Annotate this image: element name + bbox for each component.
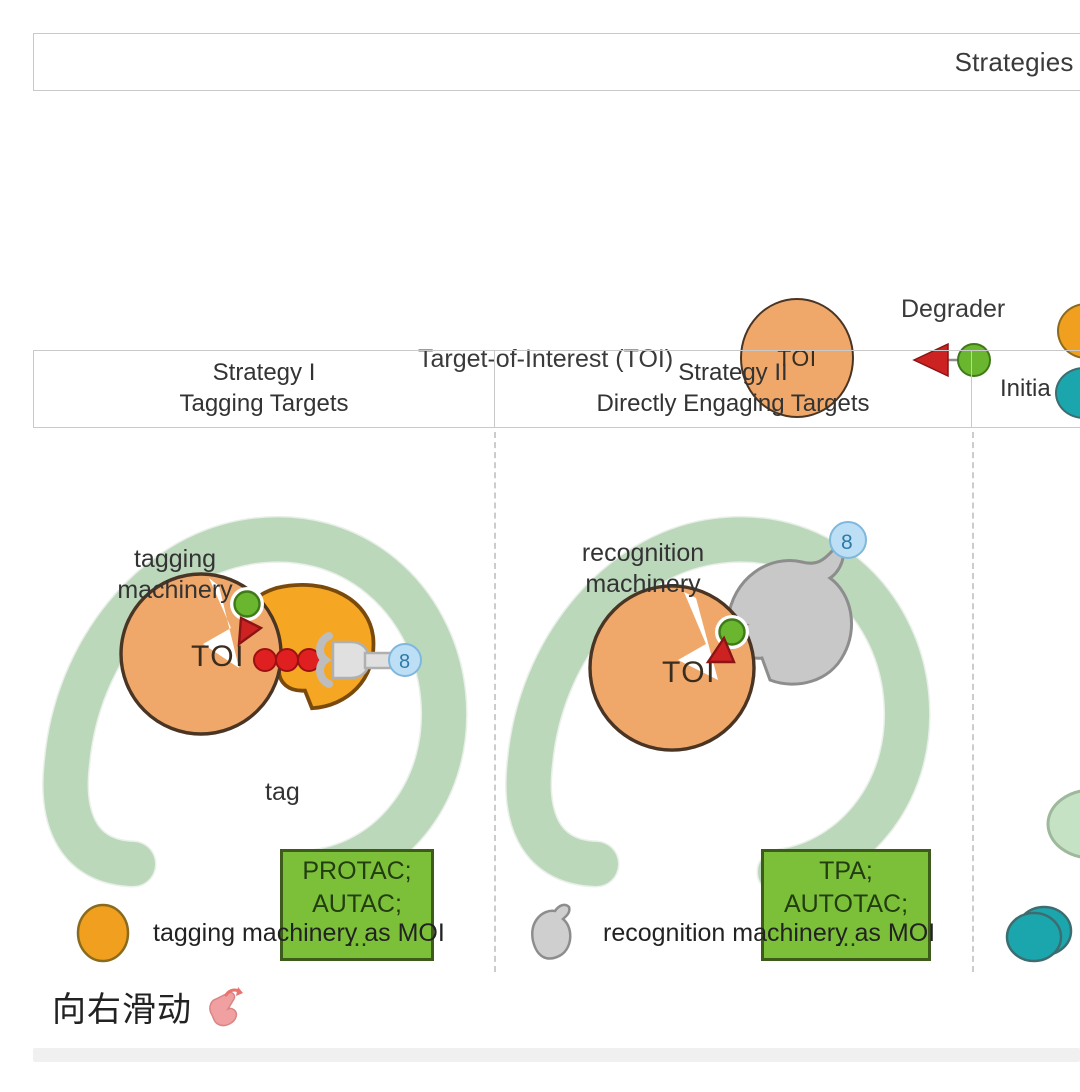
svg-text:8: 8 [399, 651, 410, 673]
figure-title-bar: Strategies for [33, 33, 1080, 91]
swipe-hint-text: 向右滑动 [52, 982, 192, 1031]
legend-item-recognition-machinery: recognition machinery as MOI [519, 901, 935, 965]
column-2-line-1: Strategy II [678, 358, 787, 389]
strategy-1-box-line-1: PROTAC; [302, 855, 411, 889]
strategy-table: Strategy I Tagging Targets Strategy II D… [33, 350, 1080, 970]
strategy-2-box-line-1: TPA; [819, 855, 873, 889]
legend-item-tagging-machinery: tagging machinery as MOI [75, 903, 445, 963]
column-header-strategy-2: Strategy II Directly Engaging Targets [495, 351, 972, 427]
pointing-finger-icon [202, 985, 244, 1029]
legend-label-tagging-machinery: tagging machinery as MOI [153, 919, 445, 948]
teal-discs-icon [998, 901, 1078, 967]
swipe-right-hint: 向右滑动 [52, 982, 244, 1031]
grey-blob-icon [519, 901, 581, 965]
top-legend: Target-of-Interest (TOI) TOI Degrader [0, 140, 1080, 305]
bottom-legend: tagging machinery as MOI recognition mac… [33, 895, 1080, 970]
recognition-machinery-label: recognition machinery [538, 538, 748, 599]
degrader-legend-label: Degrader [901, 295, 1005, 324]
panel-strategy-1: TOI 8 tagging machinery [33, 432, 494, 932]
strategy-table-header: Strategy I Tagging Targets Strategy II D… [33, 350, 1080, 428]
column-header-strategy-1: Strategy I Tagging Targets [34, 351, 495, 427]
legend-label-recognition-machinery: recognition machinery as MOI [603, 919, 935, 948]
amber-blob-icon [75, 903, 131, 963]
page-root: Strategies for Target-of-Interest (TOI) … [0, 0, 1080, 1092]
column-header-strategy-3: Initia [972, 351, 1080, 427]
svg-text:8: 8 [841, 531, 853, 554]
tagging-machinery-label: tagging machinery [95, 544, 255, 605]
tag-label: tag [265, 778, 300, 807]
recognition-machinery-label-line-1: recognition [538, 538, 748, 569]
panel-strategy-2: 8 TOI recognition machinery TPA; AUTOTAC… [496, 432, 973, 932]
tagging-machinery-label-line-2: machinery [95, 575, 255, 606]
column-1-line-1: Strategy I [213, 358, 316, 389]
strategy-3-diagram [974, 432, 1080, 932]
horizontal-scrollbar[interactable] [33, 1048, 1080, 1062]
column-1-line-2: Tagging Targets [179, 389, 348, 420]
column-3-line-1: Initia [972, 374, 1051, 405]
column-2-line-2: Directly Engaging Targets [596, 389, 869, 420]
tagging-machinery-label-line-1: tagging [95, 544, 255, 575]
recognition-machinery-label-line-2: machinery [538, 569, 748, 600]
svg-text:TOI: TOI [191, 640, 245, 673]
panel-strategy-3 [974, 432, 1080, 932]
legend-item-teal-discs [998, 901, 1078, 967]
page-title: Strategies for [955, 47, 1080, 78]
